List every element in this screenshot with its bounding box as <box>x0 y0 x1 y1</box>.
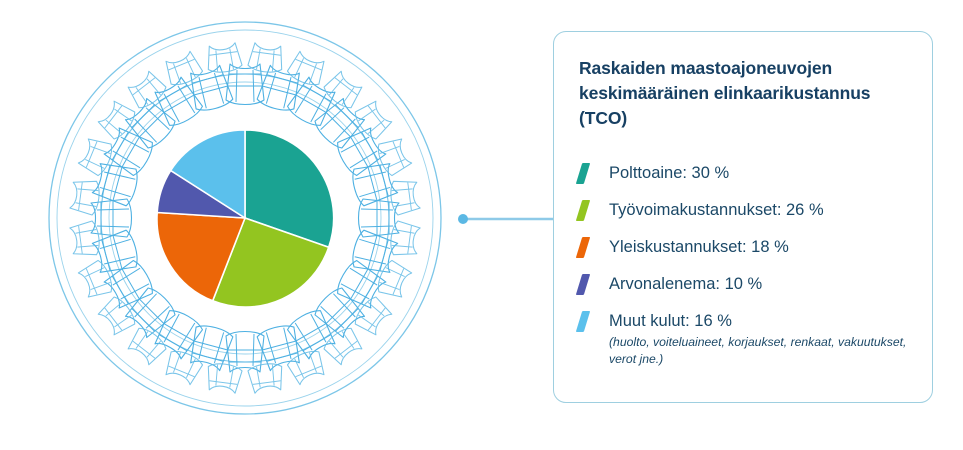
legend-swatch-icon <box>576 200 590 221</box>
legend-item-yleiskustannukset: Yleiskustannukset: 18 % <box>579 232 919 269</box>
card-title: Raskaiden maastoajoneuvojen keskimääräin… <box>579 56 909 131</box>
legend-item-label: Arvonalenema: 10 % <box>609 269 762 299</box>
legend-item-label: Muut kulut: 16 % <box>609 306 732 336</box>
legend-swatch-icon <box>576 274 590 295</box>
legend-item-tyovoimakustannukset: Työvoimakustannukset: 26 % <box>579 195 919 232</box>
info-card: Raskaiden maastoajoneuvojen keskimääräin… <box>553 31 933 403</box>
legend-item-label: Polttoaine: 30 % <box>609 158 729 188</box>
legend-swatch-icon <box>576 311 590 332</box>
legend-item-note: (huolto, voiteluaineet, korjaukset, renk… <box>609 334 909 368</box>
legend-item-label: Työvoimakustannukset: 26 % <box>609 195 824 225</box>
legend-item-label: Yleiskustannukset: 18 % <box>609 232 789 262</box>
connector-line <box>455 205 565 235</box>
legend-item-arvonalenema: Arvonalenema: 10 % <box>579 269 919 306</box>
tire-pie-illustration <box>0 0 480 445</box>
legend-swatch-icon <box>576 163 590 184</box>
legend-swatch-icon <box>576 237 590 258</box>
pie-chart <box>156 129 334 307</box>
legend: Polttoaine: 30 % Työvoimakustannukset: 2… <box>579 158 919 306</box>
legend-item-polttoaine: Polttoaine: 30 % <box>579 158 919 195</box>
connector-dot-icon <box>458 214 468 224</box>
